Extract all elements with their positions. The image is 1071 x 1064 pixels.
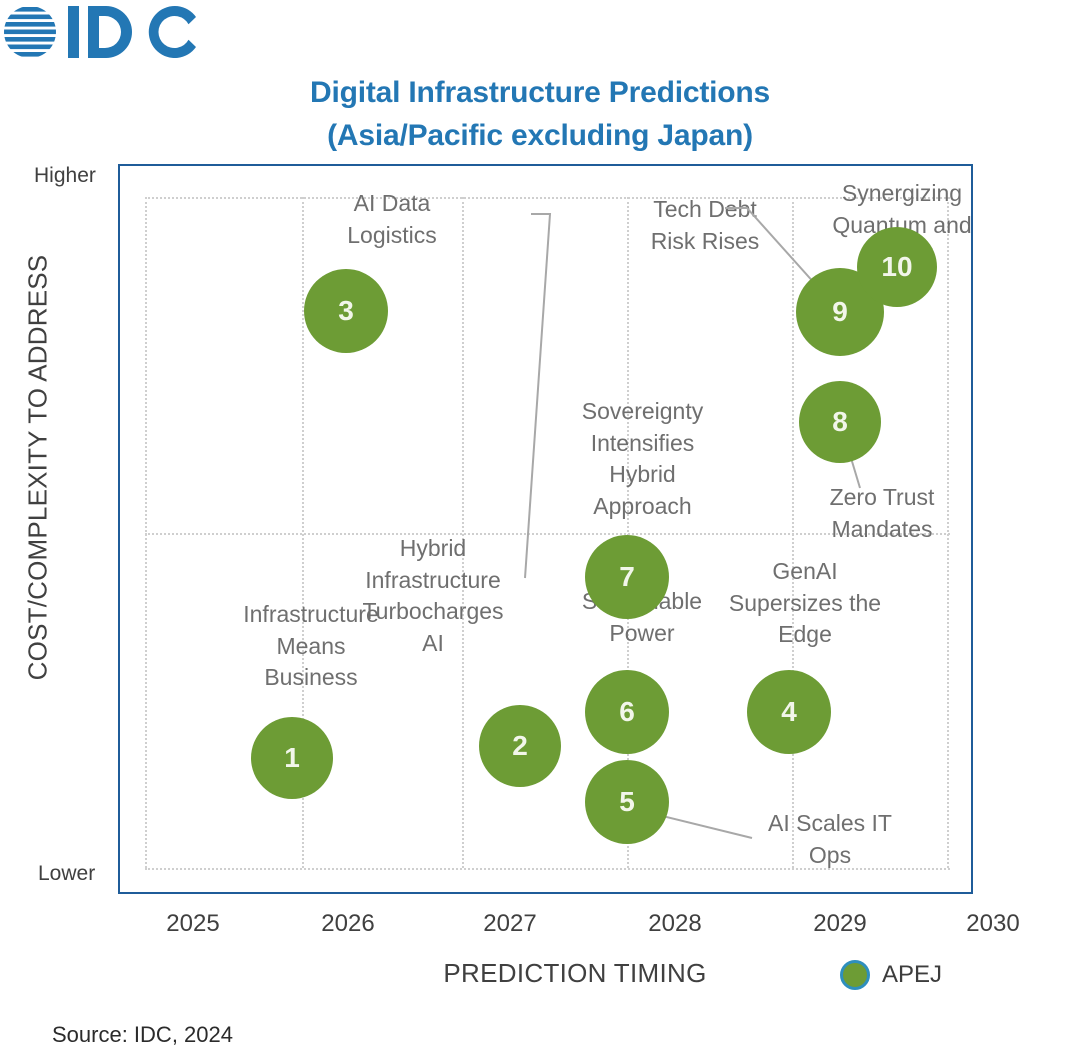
chart-legend: APEJ xyxy=(840,960,942,990)
x-tick-2028: 2028 xyxy=(615,910,735,938)
x-tick-2027: 2027 xyxy=(450,910,570,938)
chart-plot-area: AI Data Logistics Tech Debt Risk Rises S… xyxy=(118,164,973,894)
label-infrastructure-means-business: Infrastructure Means Business xyxy=(216,599,406,694)
idc-logo-graphic xyxy=(0,4,210,64)
label-genai-supersizes-the-edge: GenAI Supersizes the Edge xyxy=(715,556,895,651)
y-axis-high-label: Higher xyxy=(34,164,96,188)
bubble-2[interactable]: 2 xyxy=(479,705,561,787)
x-axis-title: PREDICTION TIMING xyxy=(300,958,850,989)
page-title-line-1: Digital Infrastructure Predictions xyxy=(130,72,950,115)
label-sovereignty-hybrid-approach: Sovereignty Intensifies Hybrid Approach xyxy=(550,396,735,523)
label-ai-scales-it-ops: AI Scales IT Ops xyxy=(750,808,910,871)
label-tech-debt-risk-rises: Tech Debt Risk Rises xyxy=(620,194,790,257)
page-title: Digital Infrastructure Predictions (Asia… xyxy=(130,72,950,157)
x-tick-2025: 2025 xyxy=(133,910,253,938)
bubble-8[interactable]: 8 xyxy=(799,381,881,463)
legend-label-apej: APEJ xyxy=(882,961,942,989)
y-axis-low-label: Lower xyxy=(38,862,95,886)
y-axis-title: COST/COMPLEXITY TO ADDRESS xyxy=(23,148,54,788)
x-tick-2029: 2029 xyxy=(780,910,900,938)
page-title-line-2: (Asia/Pacific excluding Japan) xyxy=(130,115,950,158)
legend-bubble-icon xyxy=(840,960,870,990)
idc-logo xyxy=(0,4,210,64)
bubble-10[interactable]: 10 xyxy=(857,227,937,307)
x-tick-2030: 2030 xyxy=(933,910,1053,938)
x-tick-2026: 2026 xyxy=(288,910,408,938)
bubble-4[interactable]: 4 xyxy=(747,670,831,754)
label-ai-data-logistics: AI Data Logistics xyxy=(302,188,482,251)
label-zero-trust-mandates: Zero Trust Mandates xyxy=(792,482,972,545)
source-note: Source: IDC, 2024 xyxy=(52,1022,233,1048)
bubble-7[interactable]: 7 xyxy=(585,535,669,619)
bubble-1[interactable]: 1 xyxy=(251,717,333,799)
bubble-5[interactable]: 5 xyxy=(585,760,669,844)
bubble-6[interactable]: 6 xyxy=(585,670,669,754)
bubble-3[interactable]: 3 xyxy=(304,269,388,353)
